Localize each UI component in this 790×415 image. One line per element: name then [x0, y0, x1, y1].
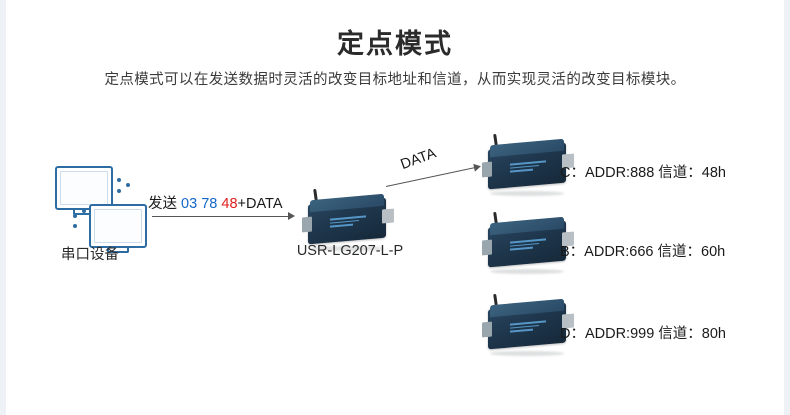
command-byte-3: 48: [221, 196, 237, 212]
node-label-d: D：ADDR:999 信道：80h: [560, 322, 726, 343]
monitor-icon: [89, 204, 147, 248]
node-label-b: B：ADDR:666 信道：60h: [560, 240, 725, 261]
page-title: 定点模式: [0, 22, 790, 61]
send-arrow-head: [288, 212, 295, 220]
right-edge-strip: [784, 0, 790, 415]
serial-device-label: 串口设备: [30, 243, 150, 264]
left-edge-strip: [0, 0, 6, 415]
command-byte-1: 03: [181, 196, 197, 212]
send-arrow-line: [152, 216, 290, 217]
data-arrow-line: [386, 167, 476, 187]
data-arrow-label: DATA: [399, 145, 439, 173]
command-byte-2: 78: [201, 196, 217, 212]
node-label-c: C：ADDR:888 信道：48h: [560, 161, 726, 182]
gateway-label: USR-LG207-L-P: [280, 243, 420, 259]
page-subtitle: 定点模式可以在发送数据时灵活的改变目标地址和信道，从而实现灵活的改变目标模块。: [0, 68, 790, 89]
monitor-screen: [94, 209, 142, 243]
command-suffix: +DATA: [238, 196, 283, 212]
send-command-text: 发送 03 78 48+DATA: [148, 192, 283, 213]
monitor-screen: [60, 171, 108, 205]
send-prefix: 发送: [148, 196, 177, 212]
